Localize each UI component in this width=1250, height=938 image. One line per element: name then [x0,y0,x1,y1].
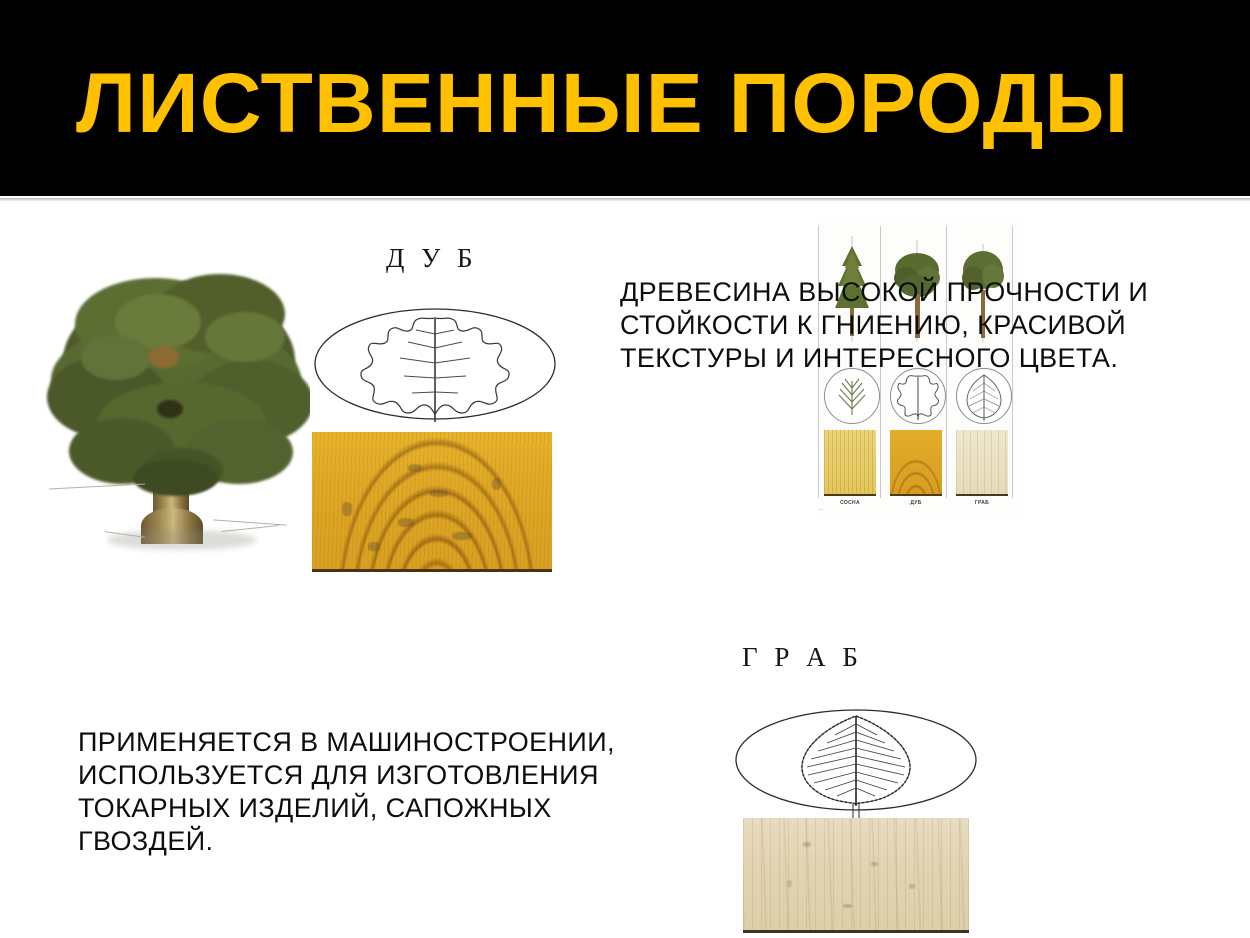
oak-tree-photo [45,272,310,562]
hornbeam-description-text: ПРИМЕНЯЕТСЯ В МАШИНОСТРОЕНИИ, ИСПОЛЬЗУЕТ… [78,726,698,858]
page-title: ЛИСТВЕННЫЕ ПОРОДЫ [76,60,1198,146]
oak-species-caption: Д У Б [386,243,478,274]
banner-divider [0,198,1250,201]
chart-label-pine: СОСНА [822,500,878,506]
chart-wood-pine [824,430,876,496]
hornbeam-leaf-diagram [733,702,979,824]
hornbeam-wood-swatch [743,818,969,933]
title-banner: ЛИСТВЕННЫЕ ПОРОДЫ [0,0,1250,196]
oak-description-text: ДРЕВЕСИНА ВЫСОКОЙ ПРОЧНОСТИ И СТОЙКОСТИ … [620,276,1200,375]
chart-leaf-pine [824,368,880,424]
chart-wood-oak [890,430,942,496]
chart-leaf-oak [890,368,946,424]
hornbeam-species-caption: Г Р А Б [742,642,863,673]
chart-leaf-hornbeam [956,368,1012,424]
oak-wood-swatch [312,432,552,572]
chart-wood-hornbeam [956,430,1008,496]
chart-corner-note: — [819,506,823,511]
chart-label-hornbeam: ГРАБ [954,500,1010,506]
oak-leaf-diagram [312,300,558,428]
chart-label-oak: ДУБ [888,500,944,506]
